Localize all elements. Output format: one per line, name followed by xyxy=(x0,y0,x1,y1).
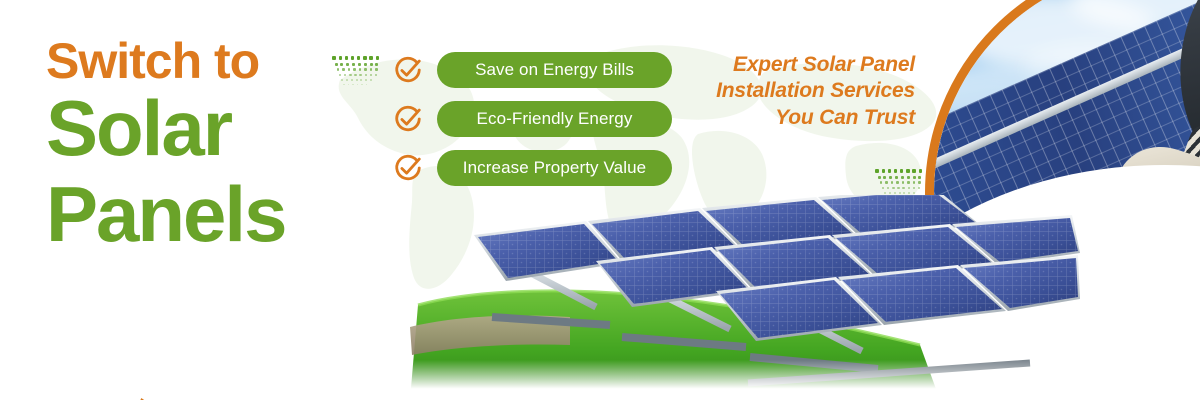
dot-grid-dot xyxy=(888,169,891,172)
feature-pill[interactable]: Eco-Friendly Energy xyxy=(437,101,672,137)
dot-grid-dot xyxy=(369,56,372,59)
dot-grid-dot xyxy=(364,68,367,71)
tagline-block: Expert Solar Panel Installation Services… xyxy=(716,52,915,131)
dot-grid-row xyxy=(342,82,380,86)
dot-grid-dot xyxy=(343,84,345,86)
dot-grid-dot xyxy=(370,79,372,81)
dot-grid-dot xyxy=(913,181,916,184)
dot-grid-dot xyxy=(365,79,367,81)
feature-pill[interactable]: Save on Energy Bills xyxy=(437,52,672,88)
feature-item[interactable]: Increase Property Value xyxy=(393,150,672,186)
dot-grid-dot xyxy=(913,176,916,179)
dot-grid-dot xyxy=(903,192,905,194)
dot-grid-dot xyxy=(366,84,368,86)
dot-grid-dot xyxy=(907,181,910,184)
dot-grid-dot xyxy=(885,181,888,184)
tagline-line-2: Installation Services xyxy=(716,78,915,104)
dot-grid-dot xyxy=(358,63,361,66)
dot-grid-dot xyxy=(892,187,894,189)
dot-grid-dot xyxy=(339,74,341,76)
feature-pill-label: Eco-Friendly Energy xyxy=(477,109,633,129)
dot-grid-dot xyxy=(346,63,349,66)
dot-grid-dot xyxy=(900,169,903,172)
feature-pill[interactable]: Increase Property Value xyxy=(437,150,672,186)
feature-pill-label: Save on Energy Bills xyxy=(475,60,634,80)
dot-grid-dot xyxy=(897,187,899,189)
check-circle-icon xyxy=(393,55,423,85)
dot-grid-dot xyxy=(376,56,379,59)
dot-grid-dot xyxy=(902,181,905,184)
dot-grid-dot xyxy=(370,74,372,76)
dot-grid-dot xyxy=(913,192,915,194)
dot-grid-dot xyxy=(884,192,886,194)
dot-grid-dot xyxy=(349,74,351,76)
dot-grid-dot xyxy=(875,169,878,172)
dot-grid-dot xyxy=(348,84,350,86)
dot-grid-dot xyxy=(370,63,373,66)
dot-grid-dot xyxy=(912,169,915,172)
dot-grid-dot xyxy=(352,84,354,86)
dot-grid-dot xyxy=(360,79,362,81)
dot-grid-dot xyxy=(894,192,896,194)
dot-grid-dot xyxy=(361,84,363,86)
dot-grid-dot xyxy=(363,56,366,59)
dot-grid-dot xyxy=(889,176,892,179)
dot-grid-dot xyxy=(908,187,910,189)
dot-grid-decoration-left xyxy=(331,55,380,87)
dot-grid-dot xyxy=(878,176,881,179)
dot-grid-dot xyxy=(342,68,345,71)
dot-grid-dot xyxy=(883,176,886,179)
dot-grid-dot xyxy=(359,68,362,71)
dot-grid-dot xyxy=(332,56,335,59)
dot-grid-dot xyxy=(340,63,343,66)
dot-grid-dot xyxy=(351,79,353,81)
dot-grid-dot xyxy=(335,63,338,66)
dot-grid-dot xyxy=(357,56,360,59)
dot-grid-dot xyxy=(918,176,921,179)
dot-grid-dot xyxy=(899,192,901,194)
dot-grid-dot xyxy=(337,68,340,71)
dot-grid-dot xyxy=(345,56,348,59)
check-circle-icon xyxy=(393,104,423,134)
feature-pill-label: Increase Property Value xyxy=(463,158,646,178)
tagline-line-1: Expert Solar Panel xyxy=(716,52,915,78)
dot-grid-dot xyxy=(882,187,884,189)
feature-item[interactable]: Eco-Friendly Energy xyxy=(393,101,672,137)
dot-grid-dot xyxy=(913,187,915,189)
dot-grid-dot xyxy=(356,79,358,81)
feature-list: Save on Energy Bills Eco-Friendly Energy… xyxy=(393,52,672,199)
dot-grid-dot xyxy=(370,68,373,71)
dot-grid-dot xyxy=(894,169,897,172)
dot-grid-dot xyxy=(346,79,348,81)
dot-grid-dot xyxy=(364,63,367,66)
dot-grid-dot xyxy=(359,74,361,76)
dot-grid-dot xyxy=(348,68,351,71)
dot-grid-dot xyxy=(895,176,898,179)
dot-grid-dot xyxy=(341,79,343,81)
tagline-line-3: You Can Trust xyxy=(716,105,915,131)
dot-grid-dot xyxy=(375,63,378,66)
dot-grid-dot xyxy=(353,68,356,71)
dot-grid-dot xyxy=(375,74,377,76)
dot-grid-dot xyxy=(375,68,378,71)
dot-grid-dot xyxy=(882,169,885,172)
dot-grid-dot xyxy=(901,176,904,179)
dot-grid-dot xyxy=(907,176,910,179)
dot-grid-dot xyxy=(357,84,359,86)
dot-grid-dot xyxy=(908,192,910,194)
feature-item[interactable]: Save on Energy Bills xyxy=(393,52,672,88)
solar-banner: Switch to Solar Panels Save on Energy Bi… xyxy=(0,0,1200,400)
check-circle-icon xyxy=(393,153,423,183)
dot-grid-dot xyxy=(919,169,922,172)
dot-grid-dot xyxy=(918,187,920,189)
dot-grid-dot xyxy=(918,181,921,184)
dot-grid-dot xyxy=(354,74,356,76)
dot-grid-dot xyxy=(352,63,355,66)
dot-grid-dot xyxy=(906,169,909,172)
dot-grid-dot xyxy=(889,192,891,194)
dot-grid-dot xyxy=(344,74,346,76)
dot-grid-dot xyxy=(880,181,883,184)
dot-grid-dot xyxy=(896,181,899,184)
dot-grid-dot xyxy=(902,187,904,189)
dot-grid-dot xyxy=(887,187,889,189)
dot-grid-dot xyxy=(351,56,354,59)
dot-grid-dot xyxy=(891,181,894,184)
arc-corner-mask xyxy=(0,0,20,80)
solar-panel-array-photo xyxy=(400,195,1080,400)
dot-grid-dot xyxy=(365,74,367,76)
dot-grid-dot xyxy=(339,56,342,59)
